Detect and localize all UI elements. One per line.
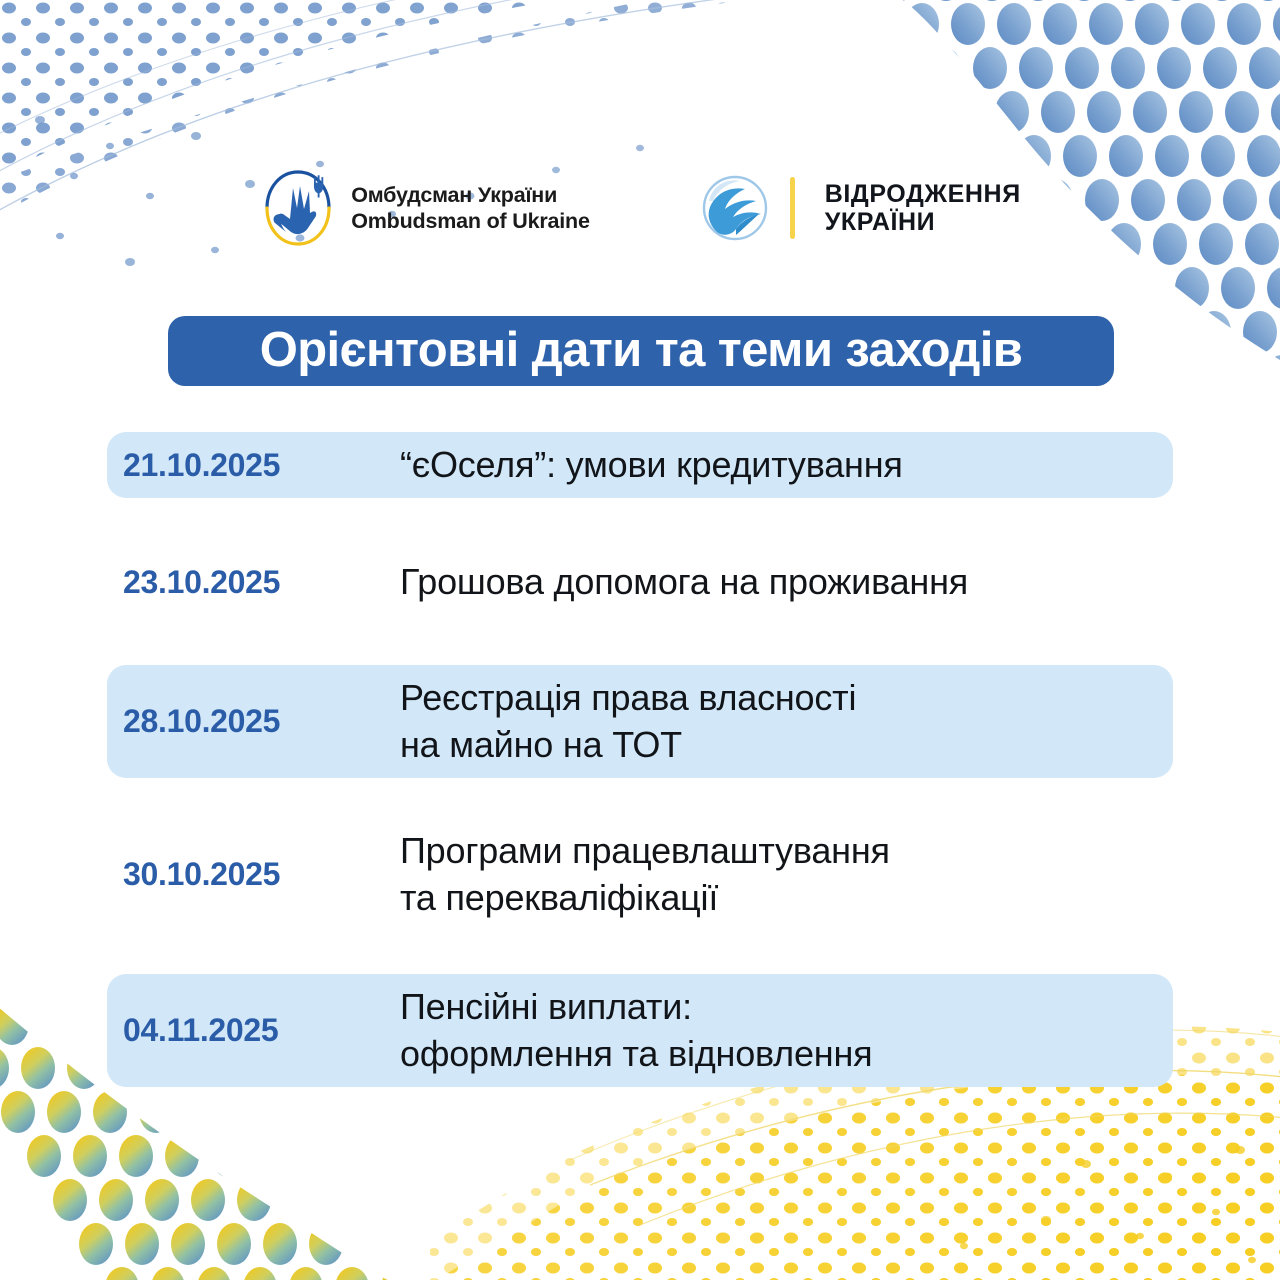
schedule-row-topic-line: Реєстрація права власності	[400, 675, 1173, 721]
schedule-row-date: 30.10.2025	[107, 856, 400, 893]
schedule-row-topic: Програми працевлаштуваннята перекваліфік…	[400, 828, 1173, 920]
schedule-row: 30.10.2025Програми працевлаштуваннята пе…	[107, 818, 1173, 931]
logo-strip: Омбудсман України Ombudsman of Ukraine В…	[0, 158, 1280, 258]
schedule-row-topic-line: Пенсійні виплати:	[400, 984, 1173, 1030]
vidrodzhennya-line2: УКРАЇНИ	[825, 208, 1021, 236]
schedule-row-topic: Реєстрація права власностіна майно на ТО…	[400, 675, 1173, 767]
schedule-row: 21.10.2025“єОселя”: умови кредитування	[107, 432, 1173, 498]
schedule-row-date: 23.10.2025	[107, 564, 400, 601]
schedule-row-topic-line: Грошова допомога на проживання	[400, 559, 1173, 605]
schedule-row-gap	[107, 498, 1173, 549]
schedule-row-topic-line: “єОселя”: умови кредитування	[400, 442, 1173, 488]
ombudsman-logo-block: Омбудсман України Ombudsman of Ukraine	[259, 166, 590, 250]
schedule-row: 28.10.2025Реєстрація права власностіна м…	[107, 665, 1173, 778]
bird-circle-logo	[700, 173, 770, 243]
ombudsman-hand-circle-logo	[259, 166, 337, 250]
schedule-row: 23.10.2025Грошова допомога на проживання	[107, 549, 1173, 615]
schedule-list: 21.10.2025“єОселя”: умови кредитування23…	[107, 432, 1173, 1087]
schedule-row-topic-line: на майно на ТОТ	[400, 722, 1173, 768]
schedule-row-gap	[107, 931, 1173, 974]
schedule-row: 04.11.2025Пенсійні виплати:оформлення та…	[107, 974, 1173, 1087]
schedule-row-gap	[107, 778, 1173, 818]
vidrodzhennya-logo-text: ВІДРОДЖЕННЯ УКРАЇНИ	[825, 180, 1021, 236]
schedule-row-topic-line: Програми працевлаштування	[400, 828, 1173, 874]
schedule-row-date: 21.10.2025	[107, 447, 400, 484]
vidrodzhennya-divider	[790, 177, 795, 239]
ombudsman-title-en: Ombudsman of Ukraine	[351, 208, 590, 234]
schedule-row-date: 04.11.2025	[107, 1012, 400, 1049]
schedule-row-topic-line: оформлення та відновлення	[400, 1031, 1173, 1077]
page-title: Орієнтовні дати та теми заходів	[260, 326, 1023, 375]
schedule-row-gap	[107, 615, 1173, 665]
ombudsman-title-uk: Омбудсман України	[351, 182, 590, 208]
vidrodzhennya-line1: ВІДРОДЖЕННЯ	[825, 180, 1021, 208]
vidrodzhennya-logo-block: ВІДРОДЖЕННЯ УКРАЇНИ	[700, 173, 1021, 243]
title-banner: Орієнтовні дати та теми заходів	[168, 316, 1114, 386]
schedule-row-topic-line: та перекваліфікації	[400, 875, 1173, 921]
ombudsman-logo-text: Омбудсман України Ombudsman of Ukraine	[351, 182, 590, 234]
schedule-row-topic: Грошова допомога на проживання	[400, 559, 1173, 605]
schedule-row-topic: “єОселя”: умови кредитування	[400, 442, 1173, 488]
schedule-row-topic: Пенсійні виплати:оформлення та відновлен…	[400, 984, 1173, 1076]
schedule-row-date: 28.10.2025	[107, 703, 400, 740]
